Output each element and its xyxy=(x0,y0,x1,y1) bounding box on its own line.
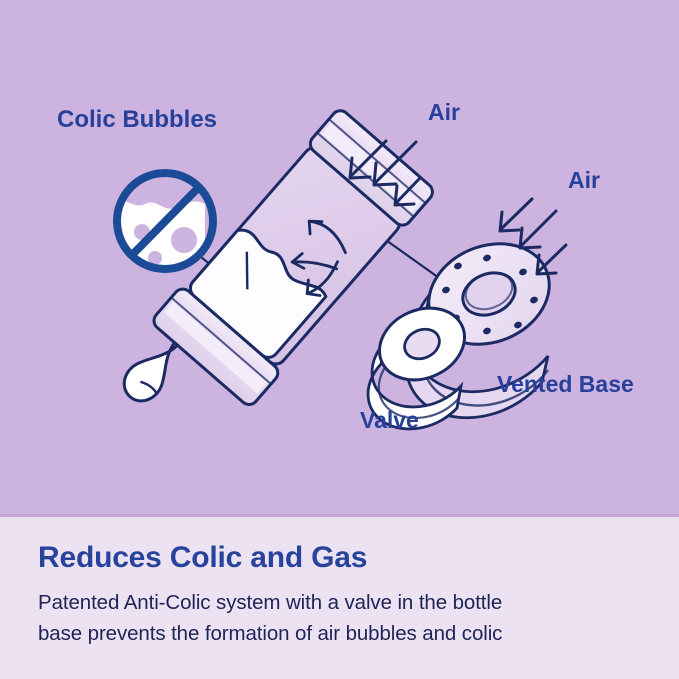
illustration-panel: Colic Bubbles Air Air Valve Vented Base xyxy=(0,0,679,516)
arrow-down-left-icon xyxy=(520,211,556,248)
product-feature-card: Colic Bubbles Air Air Valve Vented Base … xyxy=(0,0,679,679)
caption-body-line-2: base prevents the formation of air bubbl… xyxy=(38,618,648,649)
caption-body: Patented Anti-Colic system with a valve … xyxy=(38,587,648,649)
caption-title: Reduces Colic and Gas xyxy=(38,541,367,575)
label-colic-bubbles: Colic Bubbles xyxy=(57,106,217,134)
caption-panel: Reduces Colic and Gas Patented Anti-Coli… xyxy=(0,517,679,679)
arrow-down-left-icon xyxy=(500,199,532,231)
bubble xyxy=(171,227,197,253)
label-valve: Valve xyxy=(360,407,419,434)
label-air-upper: Air xyxy=(428,99,460,126)
no-bubbles-icon xyxy=(113,169,217,273)
label-vented-base: Vented Base xyxy=(497,371,634,398)
caption-body-line-1: Patented Anti-Colic system with a valve … xyxy=(38,587,648,618)
anti-colic-diagram xyxy=(0,0,679,516)
label-air-right: Air xyxy=(568,167,600,194)
